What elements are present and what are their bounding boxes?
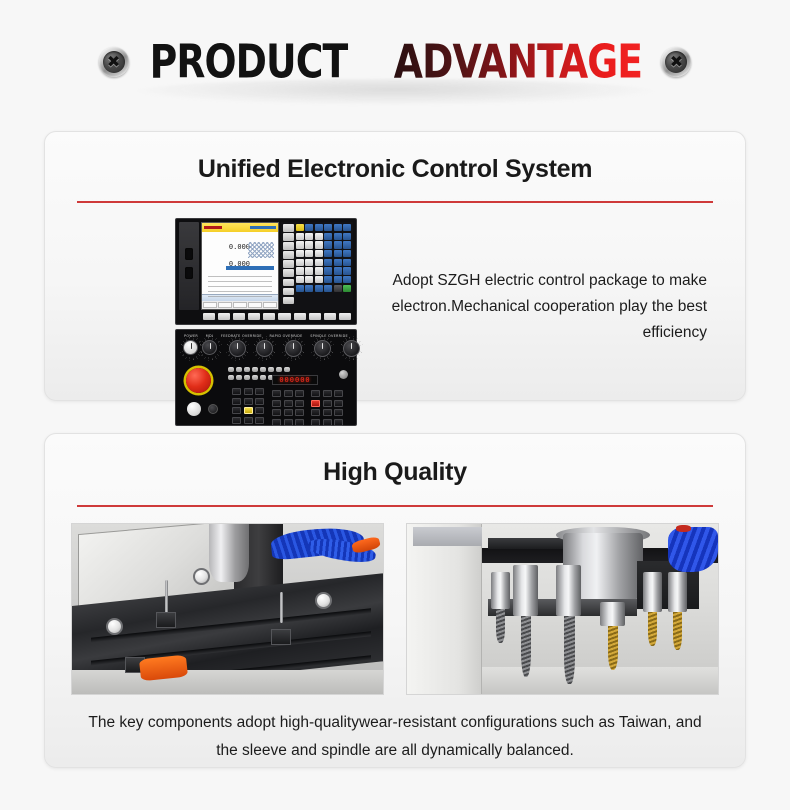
cnc-key-blue	[343, 259, 351, 266]
cnc-softkey	[283, 242, 294, 250]
cnc-key-blue	[343, 276, 351, 283]
cnc-key-blue	[324, 224, 332, 231]
mcu-toggle[interactable]	[260, 375, 266, 380]
mcu-button[interactable]	[323, 409, 332, 416]
mcu-toggle[interactable]	[268, 367, 274, 372]
cnc-key-white	[296, 276, 304, 283]
cnc-key-white	[305, 250, 313, 257]
mcu-button-yellow[interactable]	[244, 407, 253, 414]
tool-holder	[556, 565, 581, 616]
mcu-toggle[interactable]	[236, 367, 242, 372]
cnc-control-panel-photo: 0.000 0.000	[175, 218, 357, 426]
mcu-button[interactable]	[255, 388, 264, 395]
tool-holder-center	[600, 602, 625, 626]
indicator-arm-rod-right	[280, 592, 283, 623]
cnc-key-blue	[334, 259, 342, 266]
dial-indicator-right	[315, 592, 332, 609]
mcu-button[interactable]	[272, 409, 281, 416]
cnc-softkey	[283, 279, 294, 287]
mcu-toggle[interactable]	[284, 367, 290, 372]
cnc-softkey-tab	[203, 302, 217, 308]
mcu-button[interactable]	[244, 398, 253, 405]
cnc-bottom-key	[233, 313, 245, 320]
drill-bit-gold	[608, 626, 619, 670]
cnc-key-white	[296, 233, 304, 240]
cnc-key-blue	[324, 233, 332, 240]
cnc-key-blue	[343, 267, 351, 274]
card-high-quality: High Quality	[44, 433, 746, 768]
mcu-toggle-row-1	[228, 367, 290, 372]
mcu-button[interactable]	[255, 417, 264, 424]
mcu-toggle[interactable]	[244, 367, 250, 372]
mcu-button[interactable]	[334, 419, 343, 426]
cnc-key-green	[343, 285, 351, 292]
cnc-softkey	[283, 251, 294, 259]
mcu-toggle[interactable]	[252, 375, 258, 380]
drill-bit	[564, 616, 575, 684]
cnc-lcd-screen: 0.000 0.000	[201, 222, 279, 310]
cnc-bottom-key	[309, 313, 321, 320]
cnc-side-bracket	[179, 222, 199, 310]
mcu-button[interactable]	[334, 400, 343, 407]
mcu-feedrate-override-knob[interactable]	[285, 340, 302, 357]
cnc-bottom-key	[339, 313, 351, 320]
cnc-key-dark	[334, 285, 342, 292]
cnc-key-blue	[343, 233, 351, 240]
cnc-screen-body: 0.000 0.000	[202, 232, 278, 294]
mcu-spindle-knob-group	[343, 340, 360, 357]
magnetic-base-center	[156, 612, 176, 628]
cycle-stop-button[interactable]	[208, 404, 218, 414]
mcu-button[interactable]	[232, 417, 241, 424]
mcu-button[interactable]	[295, 409, 304, 416]
mcu-toggle[interactable]	[252, 367, 258, 372]
cnc-key-blue	[296, 285, 304, 292]
mcu-toggle[interactable]	[260, 367, 266, 372]
mcu-button-matrix-left	[232, 388, 264, 424]
mcu-toggle[interactable]	[228, 367, 234, 372]
mcu-button[interactable]	[272, 390, 281, 397]
cnc-screen-hatch-block	[248, 242, 274, 258]
mcu-power-on-group	[183, 340, 198, 355]
card-quality-title: High Quality	[45, 458, 745, 487]
mcu-button[interactable]	[334, 390, 343, 397]
drill-bit-gold	[673, 612, 682, 649]
cnc-key-white	[305, 267, 313, 274]
cnc-key-white	[296, 250, 304, 257]
mcu-button[interactable]	[295, 390, 304, 397]
mcu-power-on-knob[interactable]	[183, 340, 198, 355]
card-quality-caption: The key components adopt high-qualitywea…	[45, 695, 745, 765]
mcu-button[interactable]	[334, 409, 343, 416]
banner: ✖ PRODUCT ADVANTAGE ✖	[0, 18, 790, 106]
dial-indicator-left	[106, 618, 123, 635]
spindle-taper	[209, 523, 249, 582]
mcu-button[interactable]	[255, 407, 264, 414]
magnetic-base-right	[271, 629, 291, 645]
mcu-button[interactable]	[255, 398, 264, 405]
cnc-key-blue	[315, 285, 323, 292]
mcu-button[interactable]	[232, 388, 241, 395]
mcu-button[interactable]	[232, 398, 241, 405]
product-advantage-page: ✖ PRODUCT ADVANTAGE ✖ Unified Electronic…	[0, 0, 790, 810]
mcu-button[interactable]	[311, 419, 320, 426]
drill-bit-gold	[648, 612, 657, 646]
cnc-softkey	[283, 297, 294, 305]
cnc-key-blue	[324, 276, 332, 283]
x-screw-icon-left: ✖	[99, 47, 129, 77]
cnc-screen-text-block	[208, 276, 272, 298]
mcu-button[interactable]	[311, 390, 320, 397]
mcu-toggle[interactable]	[244, 375, 250, 380]
cnc-top-row: 0.000 0.000	[179, 222, 353, 310]
mcu-toggle[interactable]	[228, 375, 234, 380]
coolant-hose-fitting-red	[676, 525, 691, 532]
mcu-button-matrix-center	[272, 390, 304, 426]
card-control-description: Adopt SZGH electric control package to m…	[357, 218, 719, 346]
mcu-button[interactable]	[311, 409, 320, 416]
cnc-key-blue	[324, 250, 332, 257]
cnc-key-white	[296, 267, 304, 274]
machine-top-band	[413, 527, 481, 546]
cnc-key-white	[315, 233, 323, 240]
cnc-key-white	[296, 259, 304, 266]
card-unified-electronic-control-system: Unified Electronic Control System	[44, 131, 746, 401]
cnc-key-grid	[296, 224, 351, 308]
cnc-screen-highlight-bar	[226, 266, 274, 270]
mcu-button[interactable]	[323, 390, 332, 397]
mcu-rapid-override-knob[interactable]	[314, 340, 331, 357]
cnc-key-blue	[324, 259, 332, 266]
cnc-bottom-key	[218, 313, 230, 320]
drill-bit	[521, 616, 532, 677]
cnc-key-white	[305, 241, 313, 248]
cnc-key-blue	[324, 241, 332, 248]
x-screw-icon-right: ✖	[661, 47, 691, 77]
mcu-toggle[interactable]	[276, 367, 282, 372]
mcu-power-off-group	[202, 340, 217, 355]
mcu-button[interactable]	[284, 400, 293, 407]
drill-bit	[496, 609, 505, 643]
cnc-softkey	[283, 224, 294, 232]
mcu-spindle-override-knob[interactable]	[343, 340, 360, 357]
cnc-key-blue	[334, 250, 342, 257]
cnc-key-blue	[334, 267, 342, 274]
indicator-cover-orange	[139, 654, 188, 681]
coolant-hose-blue-right	[668, 527, 718, 571]
mcu-power-off-knob[interactable]	[202, 340, 217, 355]
mcu-button-red[interactable]	[311, 400, 320, 407]
tool-holder	[491, 572, 510, 609]
cnc-bottom-key	[324, 313, 336, 320]
mcu-button[interactable]	[272, 400, 281, 407]
mcu-button[interactable]	[284, 419, 293, 426]
cnc-key-blue	[334, 276, 342, 283]
emergency-stop-button[interactable]	[186, 368, 211, 393]
machine-side-wall	[407, 524, 482, 694]
cnc-key-blue	[324, 267, 332, 274]
cnc-bottom-key	[294, 313, 306, 320]
cnc-key-white	[315, 250, 323, 257]
cnc-softkey-column	[283, 224, 294, 308]
tool-holder	[513, 565, 538, 616]
tool-holder	[668, 572, 687, 613]
cnc-screen-softkey-tabs	[202, 301, 278, 309]
machine-base	[72, 670, 383, 694]
cnc-softkey	[283, 260, 294, 268]
cnc-softkey-tab	[248, 302, 262, 308]
mcu-rapid-knob-group	[314, 340, 331, 357]
cnc-softkey-tab	[233, 302, 247, 308]
mcu-jog-knob-group	[256, 340, 273, 357]
cnc-key-blue	[343, 250, 351, 257]
mcu-button[interactable]	[244, 417, 253, 424]
cnc-display-unit: 0.000 0.000	[175, 218, 357, 325]
banner-plate: ✖ PRODUCT ADVANTAGE ✖	[115, 26, 675, 98]
cnc-softkey-tab	[263, 302, 277, 308]
banner-word-product: PRODUCT	[149, 39, 347, 85]
cnc-key-yellow	[296, 224, 304, 231]
cnc-bottom-key	[203, 313, 215, 320]
mcu-button[interactable]	[232, 407, 241, 414]
mcu-toggle[interactable]	[236, 375, 242, 380]
mcu-button[interactable]	[323, 400, 332, 407]
mcu-button[interactable]	[284, 409, 293, 416]
magazine-upper-shelf	[488, 538, 569, 550]
cnc-key-white	[315, 276, 323, 283]
mcu-key-switch[interactable]	[339, 370, 348, 379]
cnc-bottom-key	[278, 313, 290, 320]
mcu-button[interactable]	[244, 388, 253, 395]
cnc-key-blue	[343, 224, 351, 231]
cnc-bottom-softkeys	[179, 310, 353, 321]
cnc-screen-title-mark	[204, 226, 222, 229]
mcu-feedrate-knob-group	[285, 340, 302, 357]
tool-holder	[643, 572, 662, 613]
cnc-keypad	[281, 222, 353, 310]
mcu-mode-knob-group	[229, 340, 246, 357]
tool-magazine-spindle-photo	[406, 523, 719, 695]
mcu-button-matrix-right	[311, 390, 343, 426]
mcu-button[interactable]	[323, 419, 332, 426]
mcu-mode-knob[interactable]	[229, 340, 246, 357]
card-control-body: 0.000 0.000	[45, 203, 745, 426]
cnc-key-blue	[334, 233, 342, 240]
cnc-key-white	[315, 267, 323, 274]
card-control-title: Unified Electronic Control System	[45, 155, 745, 184]
cnc-mcu-operation-panel: POWER MDI FEEDRATE OVERRIDE RAPID OVERRI…	[175, 329, 357, 426]
x-glyph-left: ✖	[99, 47, 129, 77]
cnc-key-blue	[315, 224, 323, 231]
cnc-key-blue	[305, 224, 313, 231]
cnc-key-white	[296, 241, 304, 248]
cnc-screen-titlebar	[202, 223, 278, 232]
mcu-jog-knob[interactable]	[256, 340, 273, 357]
cnc-key-white	[305, 276, 313, 283]
cnc-key-blue	[343, 241, 351, 248]
cnc-softkey	[283, 233, 294, 241]
cnc-screen-title-mark-right	[250, 226, 276, 229]
mcu-button[interactable]	[284, 390, 293, 397]
cycle-start-button[interactable]	[187, 402, 201, 416]
cnc-bottom-key	[248, 313, 260, 320]
cnc-key-blue	[334, 224, 342, 231]
cnc-softkey	[283, 288, 294, 296]
cnc-bottom-key	[263, 313, 275, 320]
cnc-key-white	[305, 233, 313, 240]
cnc-key-white	[315, 259, 323, 266]
mcu-led-display: 000000	[272, 375, 318, 385]
cnc-key-blue	[305, 285, 313, 292]
cnc-softkey	[283, 269, 294, 277]
mcu-button[interactable]	[295, 400, 304, 407]
card-quality-photo-row	[45, 507, 745, 695]
cnc-key-white	[305, 259, 313, 266]
x-glyph-right: ✖	[661, 47, 691, 77]
mcu-button[interactable]	[295, 419, 304, 426]
mcu-knob-row	[180, 338, 352, 357]
cnc-key-blue	[334, 241, 342, 248]
cnc-softkey-tab	[218, 302, 232, 308]
machine-floor	[482, 667, 718, 694]
cnc-key-white	[315, 241, 323, 248]
banner-word-advantage: ADVANTAGE	[394, 39, 642, 85]
machine-table-dial-indicators-photo	[71, 523, 384, 695]
cnc-key-blue	[324, 285, 332, 292]
mcu-button[interactable]	[272, 419, 281, 426]
